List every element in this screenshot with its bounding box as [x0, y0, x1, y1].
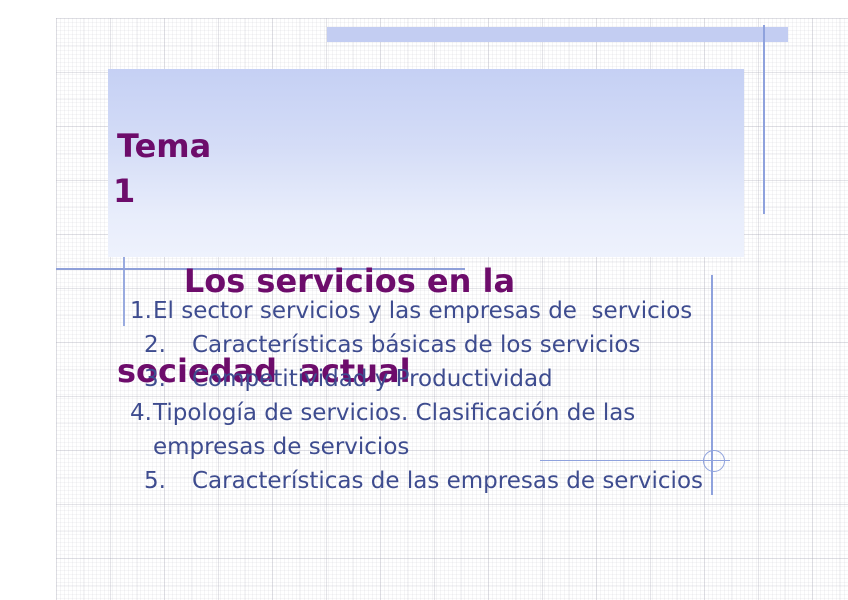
list-item: 3. Competitividad y Productividad — [108, 362, 728, 396]
top-accent-bar — [327, 27, 788, 42]
list-item: 2. Características básicas de los servic… — [108, 328, 728, 362]
list-item-number: 5. — [140, 464, 166, 498]
list-item: 4. Tipología de servicios. Clasificación… — [108, 396, 728, 464]
list-item-text: Competitividad y Productividad — [192, 362, 728, 396]
list-item: 5. Características de las empresas de se… — [108, 464, 728, 498]
list-item-text: Tipología de servicios. Clasificación de… — [153, 396, 728, 464]
title-line-1: Tema — [117, 124, 737, 169]
outline-list: 1. El sector servicios y las empresas de… — [108, 294, 728, 498]
title-overlapped-number: 1 — [113, 169, 135, 214]
list-item-number: 4. — [126, 396, 152, 430]
list-item-text: Características básicas de los servicios — [192, 328, 728, 362]
list-item-number: 3. — [140, 362, 166, 396]
list-item-number: 1. — [126, 294, 152, 328]
slide-canvas: Tema 1 Los servicios en la sociedad actu… — [0, 0, 848, 600]
vertical-rule-top-right — [763, 25, 765, 214]
list-item-text: El sector servicios y las empresas de se… — [153, 294, 728, 328]
list-item-text: Características de las empresas de servi… — [192, 464, 728, 498]
list-item-number: 2. — [140, 328, 166, 362]
list-item: 1. El sector servicios y las empresas de… — [108, 294, 728, 328]
